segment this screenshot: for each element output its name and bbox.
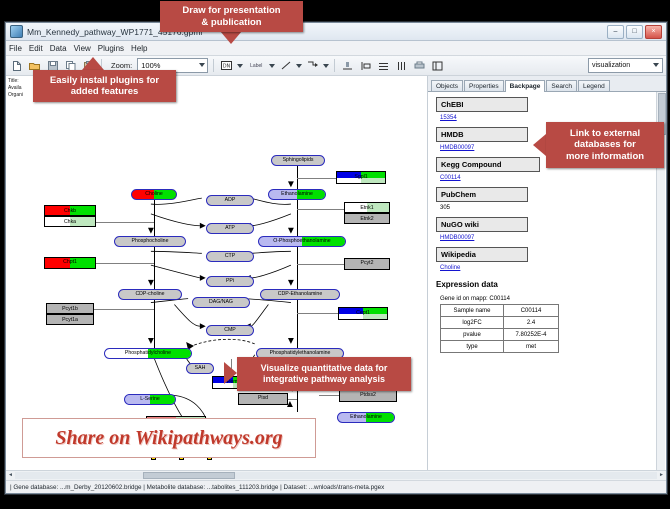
visualization-combobox[interactable]: visualization <box>588 58 663 73</box>
node-label: ATP <box>225 226 235 231</box>
node-label: Chka <box>64 219 76 225</box>
node-o-phosphoethanolamine[interactable]: O-Phosphoethanolamine <box>258 236 346 247</box>
menu-item-data[interactable]: Data <box>50 44 67 53</box>
db-header-pubchem: PubChem <box>436 187 528 202</box>
node-chka[interactable]: Chka <box>44 216 96 227</box>
node-label: Etnk2 <box>360 216 373 222</box>
node-sphingolipids[interactable]: Sphingolipids <box>271 155 325 166</box>
node-ethanolamine-2[interactable]: Ethanolamine <box>337 412 395 423</box>
db-header-nugo-wiki: NuGO wiki <box>436 217 528 232</box>
node-label: O-Phosphoethanolamine <box>273 239 330 244</box>
cell-value: C00114 <box>504 305 559 317</box>
label-tool-label: Label <box>250 63 262 69</box>
node-label: CDP-choline <box>135 292 164 297</box>
menu-bar: File Edit Data View Plugins Help <box>6 41 666 56</box>
chevron-down-icon <box>199 63 205 67</box>
node-label: Phosphatidylethanolamine <box>270 351 331 356</box>
node-cdp-ethanolamine[interactable]: CDP-Ethanolamine <box>260 289 340 300</box>
chevron-down-icon <box>269 64 275 68</box>
db-link-wikipedia[interactable]: Choline <box>440 265 660 271</box>
status-bar: | Gene database: ...m_Derby_20120602.bri… <box>6 480 666 493</box>
chevron-down-icon <box>323 64 329 68</box>
window-controls: – □ × <box>607 25 662 39</box>
node-ctp[interactable]: CTP <box>206 251 254 262</box>
node-cept1[interactable]: Cept1 <box>338 307 388 320</box>
node-label: CTP <box>225 254 235 259</box>
chevron-down-icon <box>296 64 302 68</box>
distribute-horizontal-icon[interactable] <box>394 58 409 73</box>
tab-search[interactable]: Search <box>546 80 577 91</box>
expression-data-heading: Expression data <box>436 280 660 289</box>
node-label: L-Serine <box>140 397 160 402</box>
node-ethanolamine[interactable]: Ethanolamine <box>268 189 326 200</box>
node-sgpl1[interactable]: Sgpl1 <box>336 171 386 184</box>
callout-line: & publication <box>182 17 280 28</box>
node-etnk2[interactable]: Etnk2 <box>344 213 390 224</box>
scrollbar-track[interactable] <box>15 472 657 479</box>
node-label: Choline <box>145 192 163 197</box>
node-cdp-choline[interactable]: CDP-choline <box>118 289 182 300</box>
node-ppi[interactable]: PPi <box>206 276 254 287</box>
db-header-kegg-compound: Kegg Compound <box>436 157 540 172</box>
share-text: Share on Wikipathways.org <box>55 427 282 450</box>
node-ptdss2[interactable]: Ptdss2 <box>339 390 397 402</box>
node-label: PPi <box>226 279 234 284</box>
node-label: Sphingolipids <box>283 158 314 163</box>
cell-key: pvalue <box>441 329 504 341</box>
visualization-value: visualization <box>592 62 630 69</box>
svg-text:DN: DN <box>223 64 231 70</box>
tab-properties[interactable]: Properties <box>464 80 504 91</box>
node-sah[interactable]: SAH <box>186 363 214 374</box>
node-label: DAG/NAG <box>209 300 233 305</box>
new-file-icon[interactable] <box>9 58 24 73</box>
callout-draw-for-presentation: Draw for presentation & publication <box>160 1 303 32</box>
callout-line: integrative pathway analysis <box>261 374 388 385</box>
node-choline-top[interactable]: Choline <box>131 189 177 200</box>
cell-value: met <box>504 341 559 353</box>
callout-share-on-wikipathways: Share on Wikipathways.org <box>22 418 316 458</box>
node-pcyt1b[interactable]: Pcyt1b <box>46 303 94 314</box>
print-icon[interactable] <box>412 58 427 73</box>
node-cmp[interactable]: CMP <box>206 325 254 336</box>
node-pisd[interactable]: Pisd <box>238 393 288 405</box>
callout-line: Link to external <box>566 128 644 139</box>
node-pcyt2[interactable]: Pcyt2 <box>344 258 390 270</box>
gene-id-on-mapp: Gene id on mapp: C00114 <box>440 296 660 302</box>
db-link-chebi[interactable]: 15354 <box>440 115 660 121</box>
table-row: Sample name C00114 <box>441 305 559 317</box>
callout-line: Draw for presentation <box>182 5 280 16</box>
pathway-curves <box>6 76 427 470</box>
tab-legend[interactable]: Legend <box>578 80 610 91</box>
label-tool-icon[interactable]: Label <box>246 58 266 73</box>
arrow-shape-icon[interactable] <box>305 58 320 73</box>
node-label: Pisd <box>258 396 268 401</box>
cell-key: log2FC <box>441 317 504 329</box>
align-left-icon[interactable] <box>358 58 373 73</box>
chevron-down-icon <box>653 63 659 67</box>
line-icon[interactable] <box>278 58 293 73</box>
node-label: CDP-Ethanolamine <box>278 292 322 297</box>
maximize-button[interactable]: □ <box>626 25 643 39</box>
node-etnk1[interactable]: Etnk1 <box>344 202 390 213</box>
scrollbar-thumb[interactable] <box>143 472 235 479</box>
cell-value: 7.80252E-4 <box>504 329 559 341</box>
node-label: Cept1 <box>356 311 370 316</box>
node-label: Ethanolamine <box>281 192 313 197</box>
node-chpt1[interactable]: Chpt1 <box>44 257 96 269</box>
pathway-canvas[interactable]: Title: Availa Organi <box>6 76 428 470</box>
minimize-button[interactable]: – <box>607 25 624 39</box>
table-row: pvalue 7.80252E-4 <box>441 329 559 341</box>
node-label: Pcyt2 <box>361 261 374 266</box>
window-title-bar: Mm_Kennedy_pathway_WP1771_45176.gpml – □… <box>6 23 666 41</box>
distribute-vertical-icon[interactable] <box>376 58 391 73</box>
node-adp[interactable]: ADP <box>206 195 254 206</box>
node-phosphatidylcholine[interactable]: Phosphatidylcholine <box>104 348 192 359</box>
node-dag-nag[interactable]: DAG/NAG <box>192 297 250 308</box>
tab-objects[interactable]: Objects <box>431 80 463 91</box>
callout-easily-install-plugins: Easily install plugins for added feature… <box>33 70 176 102</box>
menu-item-file[interactable]: File <box>9 44 22 53</box>
node-chkb[interactable]: Chkb <box>44 205 96 216</box>
zoom-value: 100% <box>141 61 160 70</box>
node-l-serine-left[interactable]: L-Serine <box>124 394 176 405</box>
cell-key: Sample name <box>441 305 504 317</box>
node-label: Phosphatidylcholine <box>125 351 171 356</box>
node-label: Phosphocholine <box>132 239 169 244</box>
menu-item-edit[interactable]: Edit <box>29 44 43 53</box>
node-label: CMP <box>224 328 236 333</box>
table-row: log2FC 2.4 <box>441 317 559 329</box>
callout-arrow-right-visualize <box>224 362 237 384</box>
data-node-dropdown[interactable] <box>237 64 243 68</box>
callout-line: added features <box>50 86 159 97</box>
node-label: SAH <box>195 366 206 371</box>
cell-value: 2.4 <box>504 317 559 329</box>
menu-item-help[interactable]: Help <box>131 44 147 53</box>
scroll-right-icon[interactable]: ► <box>657 472 666 480</box>
properties-icon[interactable] <box>430 58 445 73</box>
node-label: ADP <box>225 198 236 203</box>
db-value-pubchem: 305 <box>440 205 660 211</box>
callout-line: Visualize quantitative data for <box>261 363 388 374</box>
node-label: Chpt1 <box>63 260 77 265</box>
zoom-label: Zoom: <box>111 61 132 70</box>
node-label: Ptdss2 <box>360 393 376 398</box>
chevron-down-icon <box>237 64 243 68</box>
node-label: Etnk1 <box>360 205 373 211</box>
db-link-kegg[interactable]: C00114 <box>440 175 660 181</box>
node-label: Pcyt1b <box>62 306 78 312</box>
node-label: Ethanolamine <box>350 415 382 420</box>
callout-line: Easily install plugins for <box>50 75 159 86</box>
arrow-dropdown[interactable] <box>323 64 329 68</box>
node-label: Chkb <box>64 208 76 214</box>
label-dropdown[interactable] <box>269 64 275 68</box>
db-header-chebi: ChEBI <box>436 97 528 112</box>
callout-arrow-up-plugins <box>82 57 104 70</box>
node-label: Pcyt1a <box>62 317 78 323</box>
side-panel-tabs: Objects Properties Backpage Search Legen… <box>428 76 666 92</box>
toolbar-separator <box>334 59 335 72</box>
node-pcyt1a[interactable]: Pcyt1a <box>46 314 94 325</box>
callout-line: more information <box>566 151 644 162</box>
screenshot-root: Mm_Kennedy_pathway_WP1771_45176.gpml – □… <box>0 0 670 509</box>
align-bottom-icon[interactable] <box>340 58 355 73</box>
cell-key: type <box>441 341 504 353</box>
node-atp[interactable]: ATP <box>206 223 254 234</box>
menu-item-view[interactable]: View <box>74 44 91 53</box>
node-phosphocholine[interactable]: Phosphocholine <box>114 236 186 247</box>
callout-arrow-down-draw <box>220 31 242 44</box>
scroll-left-icon[interactable]: ◄ <box>6 472 15 480</box>
line-dropdown[interactable] <box>296 64 302 68</box>
callout-line: databases for <box>566 139 644 150</box>
canvas-horizontal-scrollbar[interactable]: ◄ ► <box>6 470 666 480</box>
data-node-icon[interactable]: DN <box>219 58 234 73</box>
db-link-nugo[interactable]: HMDB00097 <box>440 235 660 241</box>
status-bar-text: | Gene database: ...m_Derby_20120602.bri… <box>10 484 384 491</box>
menu-item-plugins[interactable]: Plugins <box>98 44 124 53</box>
callout-visualize-quantitative-data: Visualize quantitative data for integrat… <box>237 357 411 391</box>
pathvisio-icon <box>10 25 23 38</box>
callout-arrow-left-links <box>533 134 546 156</box>
db-header-wikipedia: Wikipedia <box>436 247 528 262</box>
tab-backpage[interactable]: Backpage <box>505 80 546 92</box>
table-row: type met <box>441 341 559 353</box>
close-button[interactable]: × <box>645 25 662 39</box>
db-header-hmdb: HMDB <box>436 127 528 142</box>
node-label: Sgpl1 <box>354 175 367 180</box>
callout-link-to-external-databases: Link to external databases for more info… <box>546 122 664 168</box>
expression-table: Sample name C00114 log2FC 2.4 pvalue 7.8… <box>440 304 559 353</box>
toolbar-separator <box>213 59 214 72</box>
